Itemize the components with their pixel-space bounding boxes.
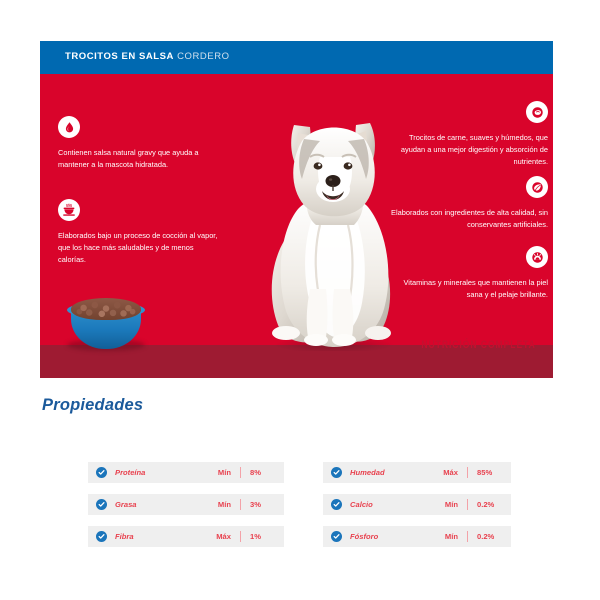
- feature-right-2: Elaborados con ingredientes de alta cali…: [388, 176, 548, 231]
- property-value: 0.2%: [477, 532, 511, 541]
- check-circle-icon: [96, 499, 107, 510]
- property-qualifier: Mín: [201, 468, 231, 477]
- product-info-page: TROCITOS EN SALSA CORDERO: [0, 0, 600, 600]
- feature-right-2-text: Elaborados con ingredientes de alta cali…: [388, 207, 548, 231]
- properties-heading: Propiedades: [42, 396, 143, 415]
- hero-panel: TROCITOS EN SALSA CORDERO: [40, 41, 553, 378]
- feature-right-1-text: Trocitos de carne, suaves y húmedos, que…: [388, 132, 548, 168]
- check-circle-icon: [96, 467, 107, 478]
- nutrition-tagline: NUTRICIÓN COMPLETA: [421, 339, 530, 351]
- property-label: Grasa: [115, 500, 201, 509]
- properties-table-left: Proteína Mín 8% Grasa Mín 3% Fibra Máx 1…: [88, 462, 284, 558]
- leaf-icon: [526, 176, 548, 198]
- page-title-variant: CORDERO: [177, 51, 229, 62]
- table-row: Humedad Máx 85%: [323, 462, 511, 483]
- divider: [240, 531, 241, 542]
- check-circle-icon: [331, 467, 342, 478]
- feature-left-2: Elaborados bajo un proceso de cocción al…: [58, 199, 218, 266]
- feature-left-1: Contienen salsa natural gravy que ayuda …: [58, 116, 218, 171]
- property-label: Proteína: [115, 468, 201, 477]
- divider: [240, 467, 241, 478]
- property-label: Fósforo: [350, 532, 428, 541]
- property-qualifier: Mín: [428, 532, 458, 541]
- divider: [467, 499, 468, 510]
- check-circle-icon: [331, 499, 342, 510]
- table-row: Calcio Mín 0.2%: [323, 494, 511, 515]
- steaming-bowl-icon: [58, 199, 80, 221]
- property-qualifier: Máx: [201, 532, 231, 541]
- property-value: 1%: [250, 532, 284, 541]
- property-qualifier: Mín: [201, 500, 231, 509]
- properties-table-right: Humedad Máx 85% Calcio Mín 0.2% Fósforo …: [323, 462, 511, 558]
- property-qualifier: Mín: [428, 500, 458, 509]
- water-drop-icon: [58, 116, 80, 138]
- property-label: Calcio: [350, 500, 428, 509]
- property-value: 8%: [250, 468, 284, 477]
- property-label: Fibra: [115, 532, 201, 541]
- meat-chunk-icon: [526, 101, 548, 123]
- dog-puppy-photo: [258, 113, 408, 351]
- table-row: Fósforo Mín 0.2%: [323, 526, 511, 547]
- feature-left-2-text: Elaborados bajo un proceso de cocción al…: [58, 230, 218, 266]
- feature-right-3-text: Vitaminas y minerales que mantienen la p…: [388, 277, 548, 301]
- property-label: Humedad: [350, 468, 428, 477]
- shine-fur-icon: [526, 246, 548, 268]
- property-value: 85%: [477, 468, 511, 477]
- divider: [467, 531, 468, 542]
- feature-right-1: Trocitos de carne, suaves y húmedos, que…: [388, 101, 548, 168]
- divider: [240, 499, 241, 510]
- page-title: TROCITOS EN SALSA CORDERO: [65, 51, 230, 62]
- page-title-strong: TROCITOS EN SALSA: [65, 51, 174, 62]
- bowl-with-meat-chunks: [63, 289, 149, 351]
- divider: [467, 467, 468, 478]
- table-row: Fibra Máx 1%: [88, 526, 284, 547]
- table-row: Proteína Mín 8%: [88, 462, 284, 483]
- feature-left-1-text: Contienen salsa natural gravy que ayuda …: [58, 147, 218, 171]
- property-value: 0.2%: [477, 500, 511, 509]
- property-value: 3%: [250, 500, 284, 509]
- table-row: Grasa Mín 3%: [88, 494, 284, 515]
- check-circle-icon: [96, 531, 107, 542]
- bowl-food-chunks: [71, 298, 141, 320]
- feature-right-3: Vitaminas y minerales que mantienen la p…: [388, 246, 548, 301]
- property-qualifier: Máx: [428, 468, 458, 477]
- check-circle-icon: [331, 531, 342, 542]
